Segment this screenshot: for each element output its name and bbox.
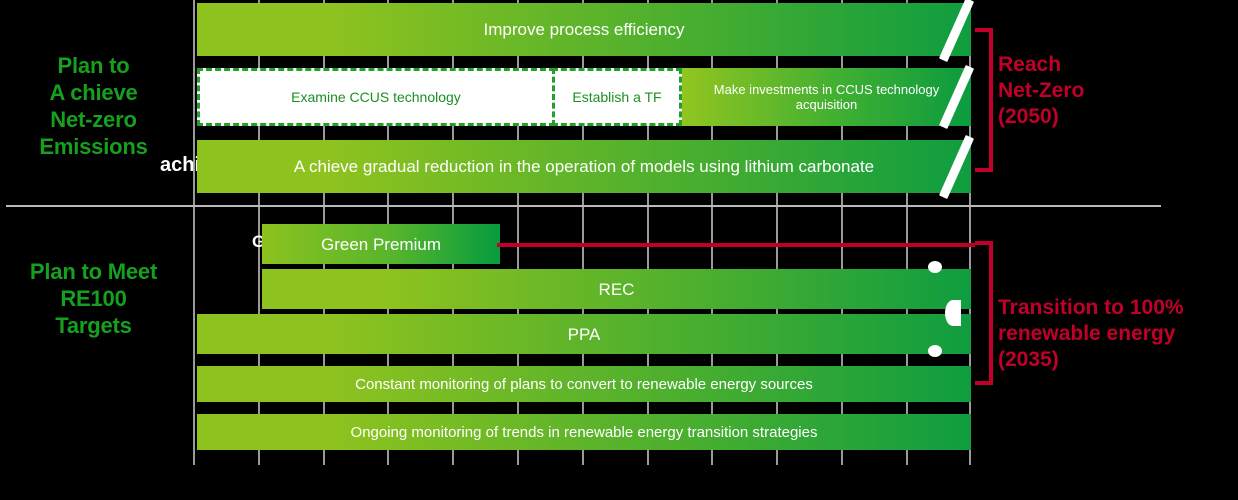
bar-label: Establish a TF bbox=[572, 89, 661, 105]
bar-ongoing-monitoring[interactable]: Ongoing monitoring of trends in renewabl… bbox=[197, 414, 971, 450]
bracket-arm-bottom bbox=[975, 381, 993, 385]
bar-examine-ccus-technology[interactable]: Examine CCUS technology bbox=[197, 68, 555, 126]
arrow-continuation-icon bbox=[945, 300, 961, 326]
bar-rec[interactable]: REC bbox=[262, 269, 971, 309]
bar-label: Improve process efficiency bbox=[478, 21, 691, 38]
bracket-re100 bbox=[975, 241, 993, 385]
gantt-roadmap-chart: Plan to A chieve Net-zero Emissions Plan… bbox=[0, 0, 1238, 500]
bar-make-investments-ccus[interactable]: Make investments in CCUS technology acqu… bbox=[682, 68, 971, 126]
bar-improve-process-efficiency[interactable]: Improve process efficiency bbox=[197, 3, 971, 56]
bar-establish-a-tf[interactable]: Establish a TF bbox=[552, 68, 682, 126]
bar-label: REC bbox=[593, 281, 641, 298]
bar-label: Make investments in CCUS technology acqu… bbox=[682, 82, 971, 112]
diagonal-slash-break-icon bbox=[939, 135, 974, 199]
bracket-stem bbox=[989, 28, 993, 172]
bar-group-ccus: Examine CCUS technology Establish a TF M… bbox=[197, 68, 971, 126]
diagonal-slash-break-icon bbox=[939, 0, 974, 62]
green-premium-connector-line bbox=[497, 243, 975, 247]
bar-achieve-gradual-reduction[interactable]: A chieve gradual reduction in the operat… bbox=[197, 140, 971, 193]
clipped-text-achieve: achi bbox=[160, 154, 200, 177]
section-divider bbox=[6, 205, 1161, 207]
bar-label: Examine CCUS technology bbox=[291, 89, 461, 105]
gridline bbox=[193, 0, 195, 465]
bar-label: Green Premium bbox=[315, 236, 447, 253]
bar-label: Constant monitoring of plans to convert … bbox=[349, 376, 819, 393]
section-label-net-zero: Plan to A chieve Net-zero Emissions bbox=[6, 52, 181, 160]
bracket-net-zero bbox=[975, 28, 993, 172]
bar-green-premium[interactable]: Green Premium bbox=[262, 224, 500, 264]
arrow-continuation-icon bbox=[928, 345, 942, 357]
bracket-arm-top bbox=[975, 241, 993, 245]
bracket-arm-top bbox=[975, 28, 993, 32]
arrow-continuation-icon bbox=[928, 261, 942, 273]
bracket-stem bbox=[989, 241, 993, 385]
bar-label: A chieve gradual reduction in the operat… bbox=[288, 158, 880, 175]
outcome-label-net-zero: Reach Net-Zero (2050) bbox=[998, 52, 1228, 130]
outcome-label-re100: Transition to 100% renewable energy (203… bbox=[998, 295, 1238, 373]
bar-constant-monitoring[interactable]: Constant monitoring of plans to convert … bbox=[197, 366, 971, 402]
bar-ppa[interactable]: PPA bbox=[197, 314, 971, 354]
section-label-re100: Plan to Meet RE100 Targets bbox=[6, 258, 181, 339]
bar-label: Ongoing monitoring of trends in renewabl… bbox=[345, 424, 824, 441]
bracket-arm-bottom bbox=[975, 168, 993, 172]
bar-label: PPA bbox=[562, 326, 607, 343]
